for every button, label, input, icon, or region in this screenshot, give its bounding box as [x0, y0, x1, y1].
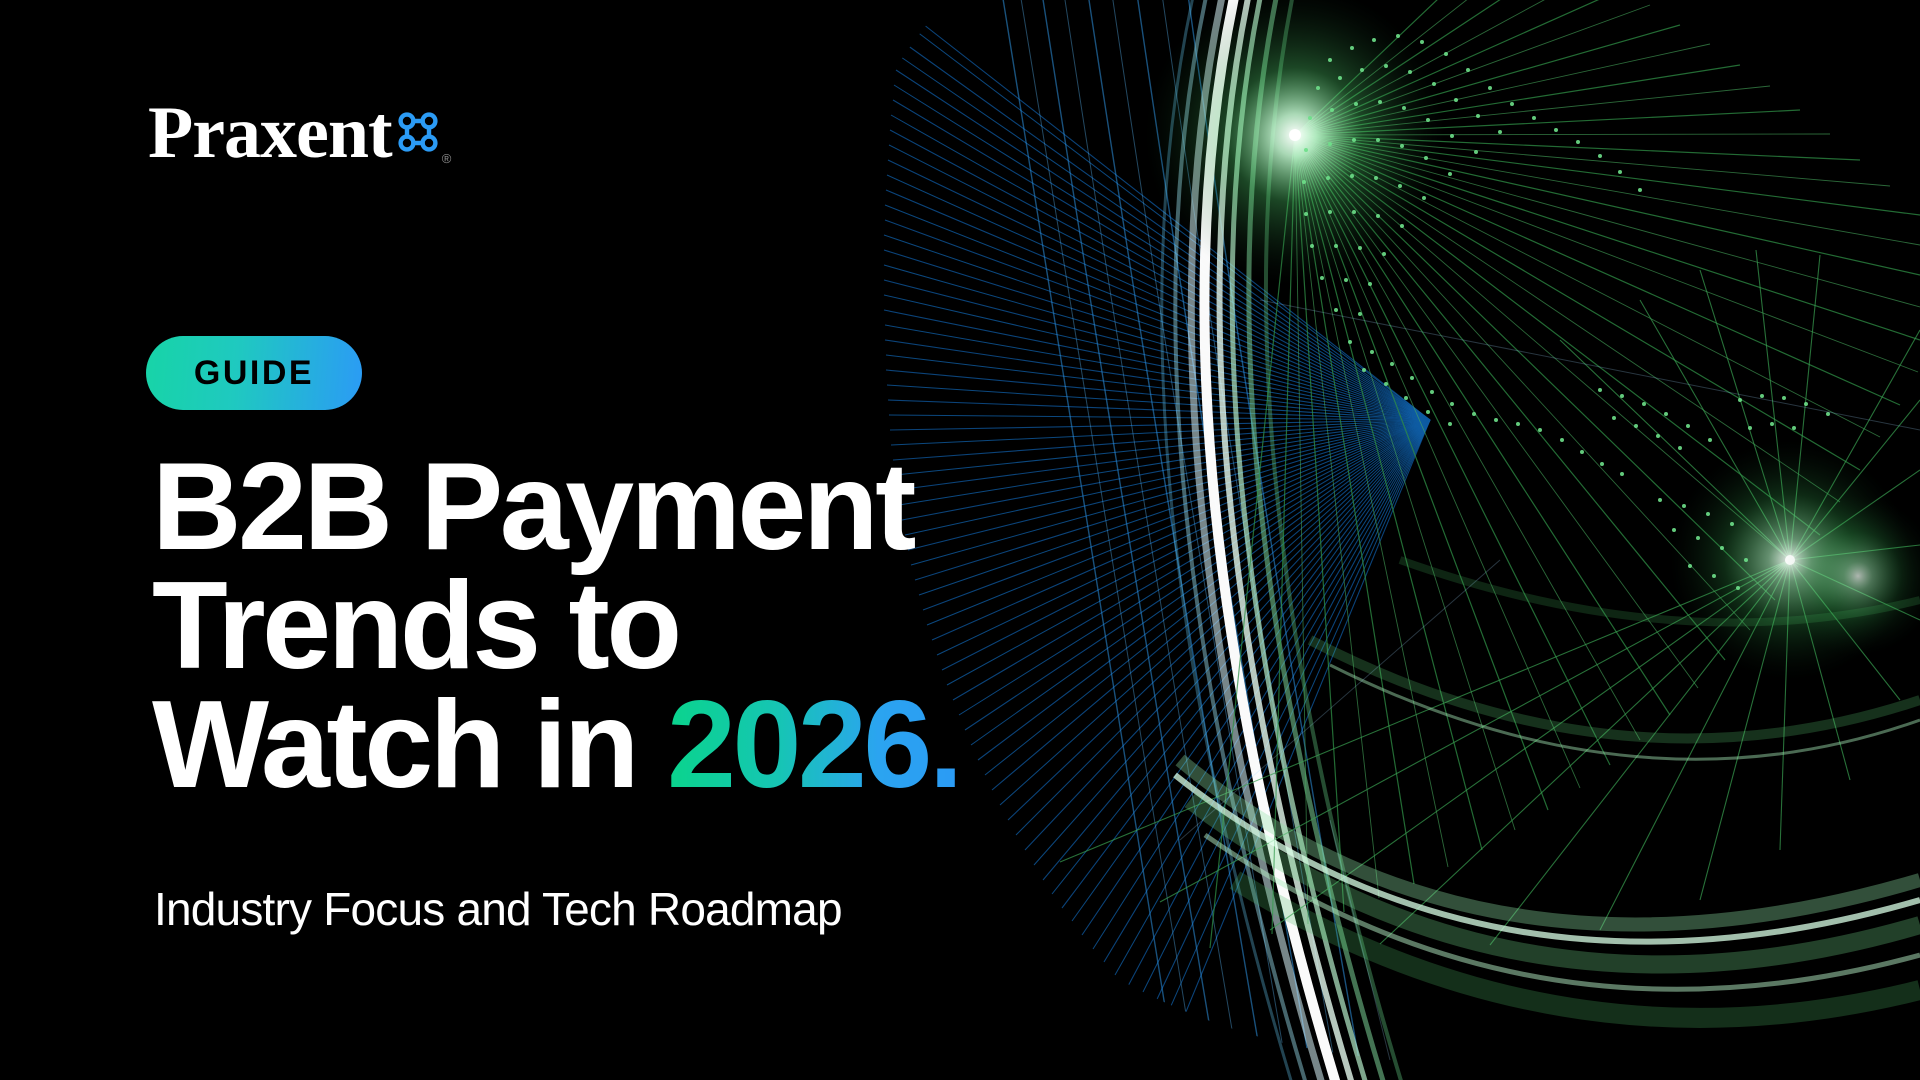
page-title: B2B Payment Trends to Watch in 2026. — [152, 448, 1112, 805]
guide-badge-label: GUIDE — [194, 356, 314, 390]
registered-trademark-icon: ® — [442, 151, 452, 166]
praxent-logo[interactable]: Praxent ® — [148, 96, 451, 170]
praxent-loop-mark-icon — [396, 110, 440, 154]
headline-line-3: Watch in 2026. — [152, 686, 1112, 805]
guide-badge: GUIDE — [146, 336, 362, 410]
headline-line-2: Trends to — [152, 567, 1112, 686]
presentation-slide: Praxent ® GUIDE B2B Payment Trends to Wa… — [0, 0, 1920, 1080]
headline-line-3-prefix: Watch in — [152, 676, 667, 814]
headline-year: 2026. — [667, 676, 960, 814]
page-subtitle: Industry Focus and Tech Roadmap — [154, 884, 842, 935]
logo-wordmark: Praxent — [148, 96, 392, 170]
headline-line-1: B2B Payment — [152, 448, 1112, 567]
